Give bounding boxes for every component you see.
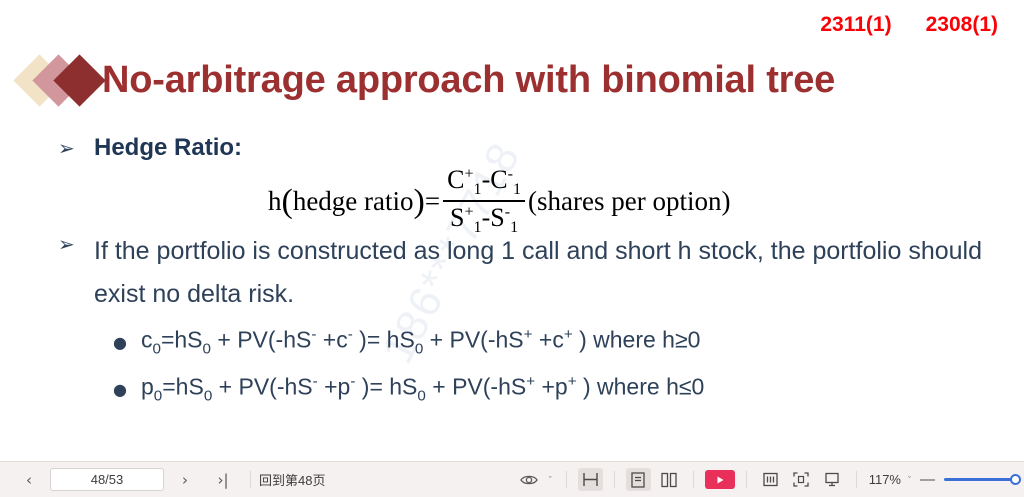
goto-page-link[interactable]: 回到第48页 xyxy=(259,470,325,489)
eq1-sup-plus-2: + xyxy=(564,326,573,343)
code-2: 2308(1) xyxy=(926,13,998,37)
eq2-sup-plus-1: + xyxy=(526,373,535,390)
den-sup-plus: + xyxy=(464,204,473,221)
formula-units: (shares per option) xyxy=(528,186,730,217)
eq2-part2: + PV(-hS xyxy=(212,374,312,400)
equation-call-row: ● c0=hS0 + PV(-hS- +c- )= hS0 + PV(-hS+ … xyxy=(113,326,700,357)
formula-lhs: h xyxy=(268,186,282,217)
formula-fraction: C+1-C-1 S+1-S-1 xyxy=(443,165,525,237)
equation-call-text: c0=hS0 + PV(-hS- +c- )= hS0 + PV(-hS+ +c… xyxy=(141,326,700,357)
chevron-bullet-icon: ➢ xyxy=(58,230,94,257)
eq1-part1-sub: 0 xyxy=(203,340,211,357)
zoom-out-button[interactable]: — xyxy=(918,471,937,488)
eq1-part4: )= hS xyxy=(353,327,415,353)
chevron-bullet-icon: ➢ xyxy=(58,134,94,161)
eq2-part5: + PV(-hS xyxy=(426,374,526,400)
eq2-sup-plus-2: + xyxy=(568,373,577,390)
eye-icon[interactable] xyxy=(517,468,542,491)
formula-arg: hedge ratio xyxy=(293,186,414,217)
eq1-lead-sub: 0 xyxy=(153,340,161,357)
next-page-button[interactable]: › xyxy=(166,468,204,492)
slide-title: No-arbitrage approach with binomial tree xyxy=(18,50,835,110)
code-1: 2311(1) xyxy=(820,13,891,37)
formula-equals: = xyxy=(425,186,440,217)
eq2-part1: =hS xyxy=(162,374,204,400)
chevron-down-icon[interactable]: ˇ xyxy=(908,475,911,485)
num-c1: C xyxy=(447,165,464,194)
hedge-ratio-label: Hedge Ratio: xyxy=(94,134,242,162)
bottom-toolbar: ‹ 48/53 › ›| 回到第48页 ˇ xyxy=(0,461,1024,497)
equation-put-row: ● p0=hS0 + PV(-hS- +p- )= hS0 + PV(-hS+ … xyxy=(113,373,704,404)
page-title: No-arbitrage approach with binomial tree xyxy=(102,59,835,102)
num-sup-minus: - xyxy=(508,165,513,182)
eq2-part7: ) where h≤0 xyxy=(577,374,705,400)
portfolio-paragraph-text: If the portfolio is constructed as long … xyxy=(94,230,984,316)
num-sub-1b: 1 xyxy=(513,181,521,198)
num-minus-c: -C xyxy=(482,165,508,194)
toolbar-divider xyxy=(746,471,747,488)
eq2-lead: p xyxy=(141,374,154,400)
eq2-part4-sub: 0 xyxy=(417,387,425,404)
page-indicator[interactable]: 48/53 xyxy=(50,468,164,491)
formula-close-paren: ) xyxy=(414,188,425,215)
presenter-view-icon[interactable] xyxy=(820,468,845,491)
play-presentation-button[interactable] xyxy=(705,470,735,489)
eq1-lead: c xyxy=(141,327,153,353)
equation-put-text: p0=hS0 + PV(-hS- +p- )= hS0 + PV(-hS+ +p… xyxy=(141,373,704,404)
eq1-part4-sub: 0 xyxy=(415,340,423,357)
formula-numerator: C+1-C-1 xyxy=(443,165,525,200)
num-sub-1: 1 xyxy=(474,181,482,198)
eq1-part6: +c xyxy=(533,327,564,353)
view-mode-group[interactable]: ˇ xyxy=(514,468,552,491)
den-minus-s: -S xyxy=(482,203,505,232)
fullscreen-icon[interactable] xyxy=(789,468,814,491)
eq2-part3: +p xyxy=(318,374,351,400)
chevron-down-icon[interactable]: ˇ xyxy=(549,475,552,485)
header-codes: 2311(1) 2308(1) xyxy=(820,13,998,37)
previous-page-button[interactable]: ‹ xyxy=(10,468,48,492)
toolbar-divider xyxy=(614,471,615,488)
toolbar-divider xyxy=(566,471,567,488)
toolbar-divider xyxy=(693,471,694,488)
eq2-part4: )= hS xyxy=(355,374,417,400)
portfolio-paragraph-bullet: ➢ If the portfolio is constructed as lon… xyxy=(58,230,988,316)
eq1-part1: =hS xyxy=(161,327,203,353)
two-page-icon[interactable] xyxy=(657,468,682,491)
den-sup-minus: - xyxy=(505,204,510,221)
last-page-button[interactable]: ›| xyxy=(204,468,242,492)
eq1-part7: ) where h≥0 xyxy=(573,327,701,353)
slide-canvas: 186***7718 2311(1) 2308(1) No-arbitrage … xyxy=(0,0,1024,462)
fit-width-icon[interactable] xyxy=(578,468,603,491)
eq1-part3: +c xyxy=(316,327,347,353)
hedge-ratio-formula: h ( hedge ratio ) = C+1-C-1 S+1-S-1 (sha… xyxy=(268,165,730,237)
toolbar-divider xyxy=(856,471,857,488)
den-s1: S xyxy=(450,203,464,232)
eq1-part2: + PV(-hS xyxy=(211,327,311,353)
formula-open-paren: ( xyxy=(282,188,293,215)
num-sup-plus: + xyxy=(464,165,473,182)
thumbnail-icon[interactable] xyxy=(758,468,783,491)
eq2-part6: +p xyxy=(535,374,568,400)
zoom-slider[interactable] xyxy=(944,478,1016,481)
eq1-sup-plus-1: + xyxy=(524,326,533,343)
zoom-slider-knob[interactable] xyxy=(1010,474,1021,485)
eq1-part5: + PV(-hS xyxy=(423,327,523,353)
toolbar-divider xyxy=(250,471,251,488)
toolbar-right-group: ˇ xyxy=(508,468,1024,491)
hedge-ratio-bullet: ➢ Hedge Ratio: xyxy=(58,134,242,162)
eq2-lead-sub: 0 xyxy=(154,387,162,404)
round-bullet-icon: ● xyxy=(113,380,141,399)
eq2-part1-sub: 0 xyxy=(204,387,212,404)
zoom-level-label[interactable]: 117% xyxy=(869,472,901,487)
single-page-icon[interactable] xyxy=(626,468,651,491)
diamond-decoration-icon xyxy=(18,53,106,107)
round-bullet-icon: ● xyxy=(113,333,141,352)
zoom-controls: 117% ˇ — xyxy=(869,471,1016,488)
